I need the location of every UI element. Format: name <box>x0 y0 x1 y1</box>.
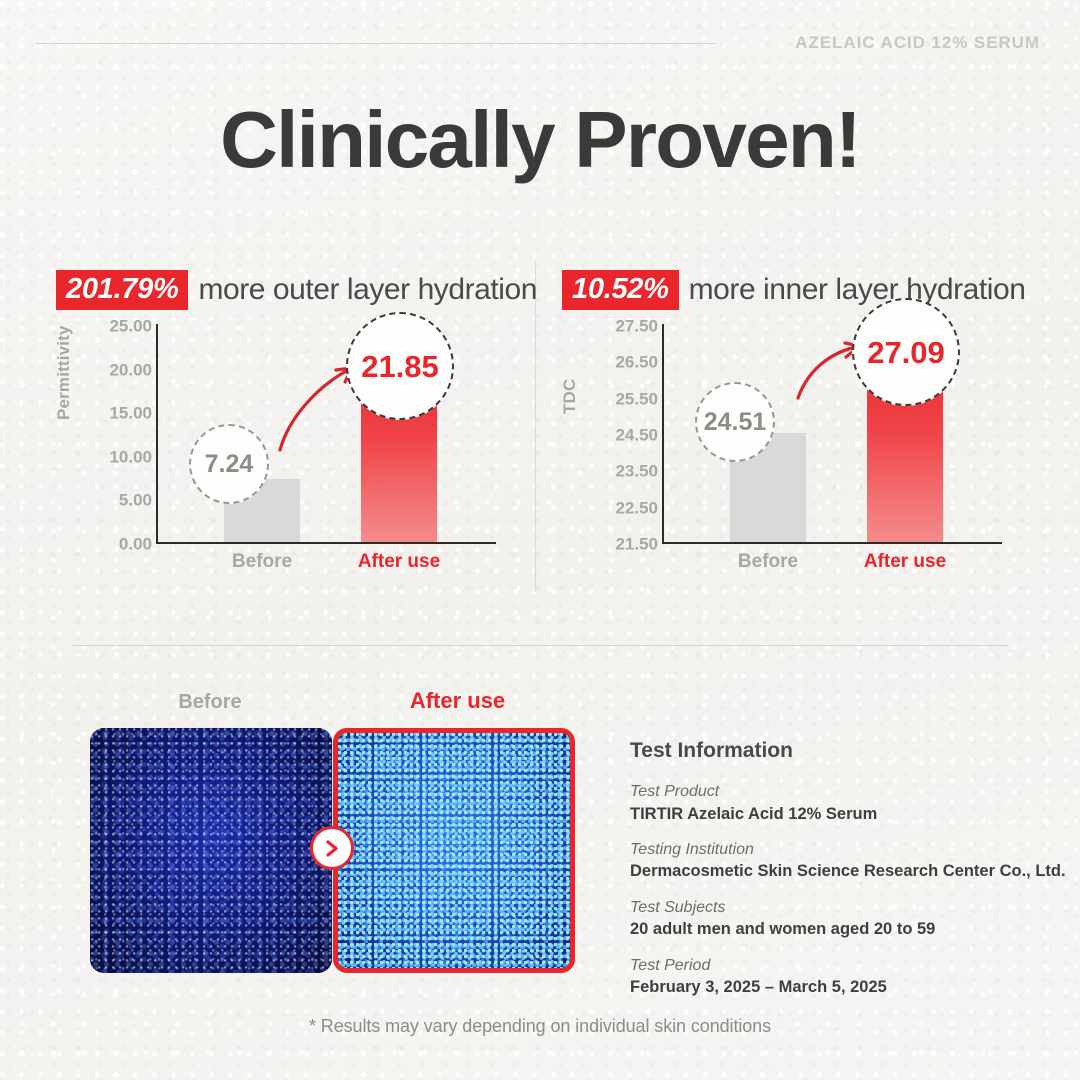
category-label-after: After use <box>849 552 961 571</box>
info-row: Test Subjects 20 adult men and women age… <box>630 897 1050 941</box>
value-bubble-before: 24.51 <box>695 382 775 462</box>
info-key: Test Period <box>630 955 1050 977</box>
skin-texture-bright <box>338 733 570 968</box>
y-tick: 10.00 <box>72 448 152 465</box>
y-tick: 0.00 <box>72 536 152 553</box>
stat-description: more inner layer hydration <box>689 275 1026 305</box>
section-divider <box>72 645 1008 646</box>
chart-panel-inner-layer: 10.52% more inner layer hydration TDC 27… <box>562 262 1032 602</box>
value-bubble-after: 27.09 <box>852 298 960 406</box>
product-kicker-label: AZELAIC ACID 12% SERUM <box>795 28 1040 58</box>
y-axis-line <box>662 324 664 544</box>
y-tick: 26.50 <box>578 354 658 371</box>
y-tick: 22.50 <box>578 499 658 516</box>
x-axis-line <box>156 542 496 544</box>
info-value: TIRTIR Azelaic Acid 12% Serum <box>630 803 1050 825</box>
disclaimer-footnote: * Results may vary depending on individu… <box>0 1016 1080 1037</box>
y-axis-ticks: 27.50 26.50 25.50 24.50 23.50 22.50 21.5… <box>578 324 658 544</box>
x-axis-line <box>662 542 1002 544</box>
header-rule-line <box>36 43 716 44</box>
info-value: Dermacosmetic Skin Science Research Cent… <box>630 860 1050 882</box>
category-label-after: After use <box>343 552 455 571</box>
test-information-title: Test Information <box>630 740 1050 761</box>
y-tick: 25.50 <box>578 390 658 407</box>
info-key: Testing Institution <box>630 839 1050 861</box>
info-row: Testing Institution Dermacosmetic Skin S… <box>630 839 1050 883</box>
y-axis-label: Permittivity <box>54 325 74 420</box>
charts-section: 201.79% more outer layer hydration Permi… <box>0 262 1080 602</box>
y-tick: 21.50 <box>578 536 658 553</box>
stat-badge-percent: 10.52% <box>562 270 679 310</box>
category-label-before: Before <box>206 552 318 571</box>
chart-panel-outer-layer: 201.79% more outer layer hydration Permi… <box>56 262 526 602</box>
page-title: Clinically Proven! <box>0 98 1080 182</box>
stat-headline-outer: 201.79% more outer layer hydration <box>56 270 537 310</box>
y-tick: 20.00 <box>72 361 152 378</box>
y-tick: 24.50 <box>578 427 658 444</box>
bar-chart-inner-layer: TDC 27.50 26.50 25.50 24.50 23.50 22.50 … <box>562 324 1032 594</box>
y-axis-ticks: 25.00 20.00 15.00 10.00 5.00 0.00 <box>72 324 152 544</box>
info-key: Test Product <box>630 781 1050 803</box>
top-header-bar: AZELAIC ACID 12% SERUM <box>0 28 1080 58</box>
skin-image-after <box>333 728 575 973</box>
bar-chart-outer-layer: Permittivity 25.00 20.00 15.00 10.00 5.0… <box>56 324 526 594</box>
y-tick: 25.00 <box>72 318 152 335</box>
skin-image-before <box>90 728 332 973</box>
category-label-before: Before <box>712 552 824 571</box>
info-row: Test Period February 3, 2025 – March 5, … <box>630 955 1050 999</box>
y-axis-line <box>156 324 158 544</box>
chevron-right-icon[interactable] <box>310 826 354 870</box>
info-value: February 3, 2025 – March 5, 2025 <box>630 976 1050 998</box>
stat-badge-percent: 201.79% <box>56 270 188 310</box>
test-information-panel: Test Information Test Product TIRTIR Aze… <box>630 740 1050 1012</box>
y-tick: 23.50 <box>578 463 658 480</box>
y-tick: 5.00 <box>72 492 152 509</box>
value-bubble-before: 7.24 <box>189 424 269 504</box>
y-tick: 27.50 <box>578 318 658 335</box>
y-axis-label: TDC <box>560 379 580 414</box>
y-tick: 15.00 <box>72 405 152 422</box>
stat-headline-inner: 10.52% more inner layer hydration <box>562 270 1025 310</box>
info-value: 20 adult men and women aged 20 to 59 <box>630 918 1050 940</box>
stat-description: more outer layer hydration <box>198 275 536 305</box>
info-row: Test Product TIRTIR Azelaic Acid 12% Ser… <box>630 781 1050 825</box>
value-bubble-after: 21.85 <box>346 312 454 420</box>
info-key: Test Subjects <box>630 897 1050 919</box>
skin-texture-dim <box>90 728 332 973</box>
charts-vertical-divider <box>535 262 536 592</box>
photo-label-after: After use <box>335 690 580 712</box>
photo-label-before: Before <box>90 692 330 712</box>
